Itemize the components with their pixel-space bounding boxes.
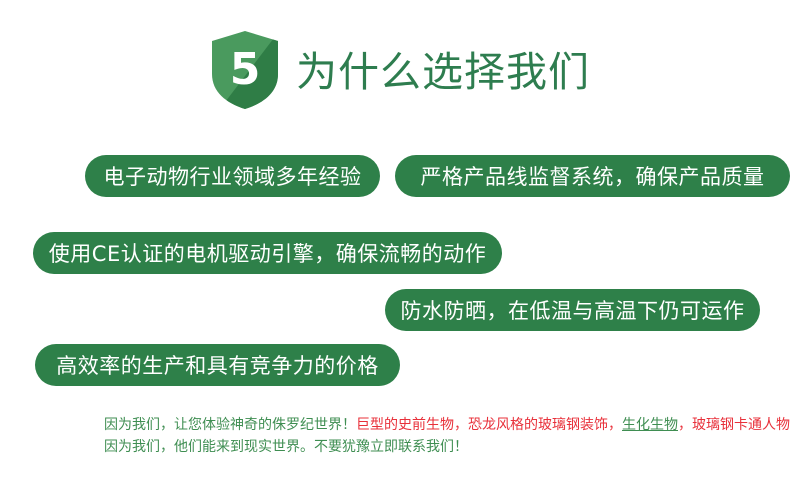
footer-link-bio-creature[interactable]: 生化生物 xyxy=(622,417,678,433)
footer-line2-cta: 因为我们，他们能来到现实世界。不要犹豫立即联系我们！ xyxy=(104,439,468,455)
header: 5 为什么选择我们 xyxy=(0,22,800,122)
page-title: 为什么选择我们 xyxy=(296,52,590,93)
promo-banner: 5 为什么选择我们 电子动物行业领域多年经验 严格产品线监督系统，确保产品质量 … xyxy=(0,0,800,485)
footer-line-2: 因为我们，他们能来到现实世界。不要犹豫立即联系我们！ xyxy=(104,436,764,458)
feature-pill-quality[interactable]: 严格产品线监督系统，确保产品质量 xyxy=(395,155,790,197)
footer-text: 因为我们，让您体验神奇的侏罗纪世界！巨型的史前生物，恐龙风格的玻璃钢装饰，生化生… xyxy=(104,414,764,458)
feature-pill-ce-motor[interactable]: 使用CE认证的电机驱动引擎，确保流畅的动作 xyxy=(33,232,502,274)
shield-icon xyxy=(210,30,280,114)
feature-pill-price[interactable]: 高效率的生产和具有竞争力的价格 xyxy=(35,344,400,386)
feature-pill-weatherproof[interactable]: 防水防晒，在低温与高温下仍可运作 xyxy=(385,289,760,331)
footer-line1-products: 巨型的史前生物，恐龙风格的玻璃钢装饰， xyxy=(356,417,622,433)
footer-line1-products-tail: ，玻璃钢卡通人物 xyxy=(678,417,790,433)
footer-line1-intro: 因为我们，让您体验神奇的侏罗纪世界！ xyxy=(104,417,356,433)
feature-pill-experience[interactable]: 电子动物行业领域多年经验 xyxy=(85,155,380,197)
footer-line-1: 因为我们，让您体验神奇的侏罗纪世界！巨型的史前生物，恐龙风格的玻璃钢装饰，生化生… xyxy=(104,414,764,436)
shield-badge: 5 xyxy=(210,30,280,114)
